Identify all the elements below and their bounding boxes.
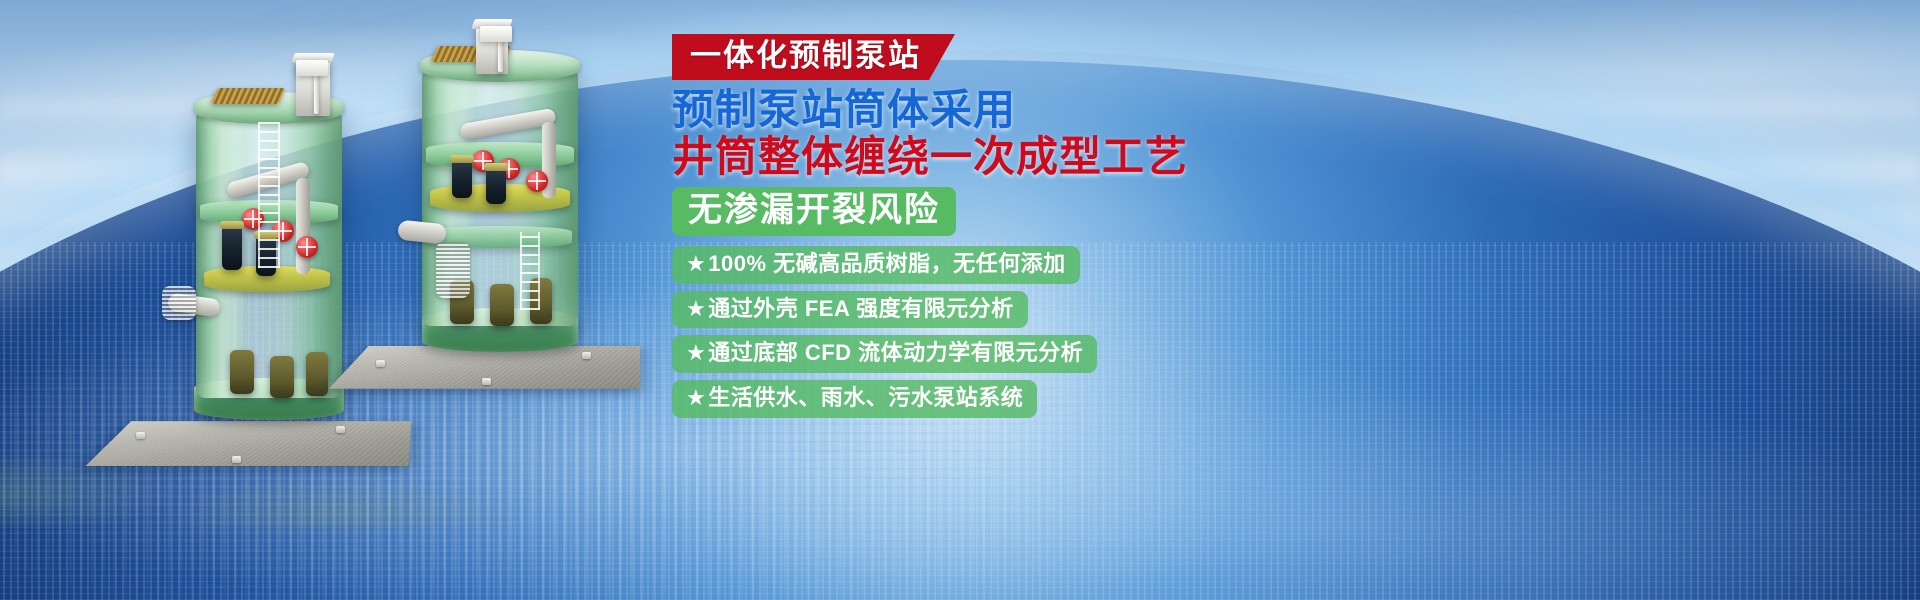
motor-cap [220, 221, 244, 229]
marketing-copy: 一体化预制泵站 预制泵站筒体采用 井筒整体缠绕一次成型工艺 无渗漏开裂风险 ★1… [672, 34, 1312, 425]
pad-bolt [582, 352, 591, 359]
feature-list: ★100% 无碱高品质树脂，无任何添加 ★通过外壳 FEA 强度有限元分析 ★通… [672, 246, 1312, 418]
submersible-pump-left [306, 352, 328, 396]
pump-station-right [330, 26, 670, 446]
riser-pipe-left [296, 178, 310, 274]
promo-banner: 一体化预制泵站 预制泵站筒体采用 井筒整体缠绕一次成型工艺 无渗漏开裂风险 ★1… [0, 0, 1920, 600]
control-box-left [296, 60, 328, 76]
pad-bolt [376, 360, 385, 367]
submersible-pump-right [490, 284, 514, 326]
feature-item-1-label: 100% 无碱高品质树脂，无任何添加 [708, 251, 1065, 276]
pad-bolt [232, 456, 241, 463]
control-box-right [480, 26, 512, 42]
access-ladder-left [258, 122, 280, 268]
feature-item-2-label: 通过外壳 FEA 强度有限元分析 [708, 296, 1013, 321]
benefit-pill: 无渗漏开裂风险 [672, 187, 956, 236]
feature-item-3-label: 通过底部 CFD 流体动力学有限元分析 [708, 340, 1083, 365]
valve-icon [526, 170, 548, 192]
feature-item-3: ★通过底部 CFD 流体动力学有限元分析 [672, 335, 1097, 373]
inlet-strainer-right [436, 242, 470, 298]
top-grate-left [210, 88, 285, 104]
access-ladder-right [520, 232, 540, 310]
headline-secondary: 井筒整体缠绕一次成型工艺 [672, 133, 1312, 180]
product-category-tag: 一体化预制泵站 [672, 34, 955, 80]
headline-primary: 预制泵站筒体采用 [672, 86, 1312, 133]
inlet-strainer-left [162, 286, 196, 320]
feature-item-4-label: 生活供水、雨水、污水泵站系统 [708, 385, 1023, 410]
feature-item-2: ★通过外壳 FEA 强度有限元分析 [672, 291, 1028, 329]
pump-motor-left [222, 226, 242, 270]
outlet-pipe-right [397, 220, 447, 245]
star-icon: ★ [686, 340, 706, 365]
star-icon: ★ [686, 251, 706, 276]
motor-cap [484, 163, 508, 171]
star-icon: ★ [686, 296, 706, 321]
star-icon: ★ [686, 385, 706, 410]
motor-cap [450, 155, 474, 163]
pad-bolt [482, 378, 491, 385]
submersible-pump-left [270, 356, 294, 398]
submersible-pump-left [230, 350, 254, 394]
pad-bolt [136, 432, 145, 439]
pump-motor-right [486, 168, 506, 204]
pump-motor-right [452, 160, 472, 198]
feature-item-1: ★100% 无碱高品质树脂，无任何添加 [672, 246, 1080, 284]
feature-item-4: ★生活供水、雨水、污水泵站系统 [672, 380, 1037, 418]
valve-icon [296, 236, 318, 258]
